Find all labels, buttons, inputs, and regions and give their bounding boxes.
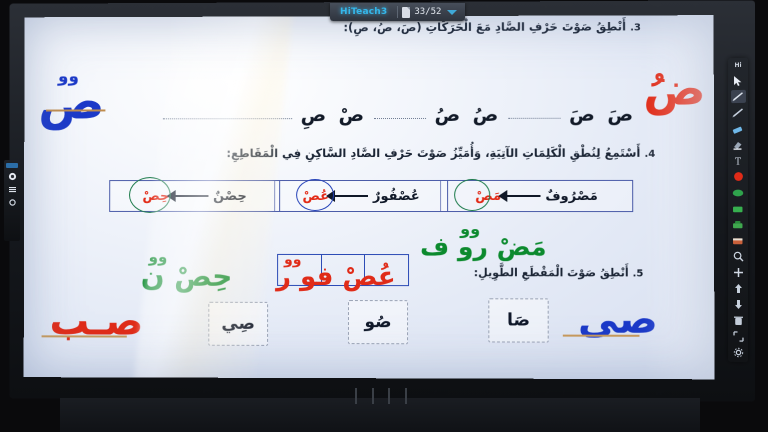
printed-letter-2: صَ: [569, 104, 595, 126]
highlighter-tool[interactable]: [731, 138, 746, 151]
display-photo: 3. أَنْطِقُ صَوْتَ حَرْفِ الصَّادِ مَعَ …: [0, 0, 768, 432]
add-page-tool[interactable]: [731, 266, 746, 279]
dotted-rule-2: [374, 118, 426, 119]
pencil-tool[interactable]: [731, 106, 746, 119]
printed-letter-3: صُ: [473, 104, 499, 126]
exercise4-number: 4.: [644, 149, 655, 160]
word-usfour: عُصْفُورٌ: [373, 188, 420, 203]
handwriting-green-hisn: حِصْ ن: [141, 260, 233, 293]
syllable-suu: صُو: [364, 312, 391, 332]
zoom-tool[interactable]: [731, 250, 746, 263]
handwriting-blue-waw: وو: [58, 69, 79, 86]
shape-tool[interactable]: [731, 202, 746, 215]
handwriting-green-waw-right: وو: [460, 219, 480, 238]
strip-cell-3: [278, 255, 321, 285]
right-tool-rail[interactable]: Hi T: [728, 58, 748, 363]
exercise4-instruction: 4. أَسْتَمِعُ لِنُطْقِ الْكَلِمَاتِ الآت…: [36, 146, 655, 160]
expand-tool[interactable]: [731, 330, 746, 343]
move-down-tool[interactable]: [731, 298, 746, 311]
page-indicator[interactable]: 33/52: [414, 7, 441, 17]
whiteboard-canvas[interactable]: 3. أَنْطِقُ صَوْتَ حَرْفِ الصَّادِ مَعَ …: [24, 15, 715, 379]
record-tool[interactable]: [7, 172, 18, 181]
chevron-down-icon[interactable]: [447, 10, 457, 15]
svg-text:T: T: [735, 157, 741, 166]
printed-letter-5: صْ: [338, 104, 364, 126]
syllable-box-suu[interactable]: صُو: [348, 300, 408, 344]
handwriting-green-waw-left: وو: [149, 248, 168, 266]
exercise4-text: أَسْتَمِعُ لِنُطْقِ الْكَلِمَاتِ الآتِيَ…: [226, 146, 640, 160]
page-icon[interactable]: [402, 7, 410, 18]
exercise3-letter-row: صَ صَ صُ صُ صْ صِ: [64, 94, 653, 129]
move-up-tool[interactable]: [731, 282, 746, 295]
screen-glare-edge: [643, 15, 715, 379]
handwriting-blue-underline: [46, 109, 105, 111]
exercise5-instruction: 5. أَنْطِقُ صَوْتَ الْمَقْطَعِ الطَّوِيل…: [322, 266, 643, 279]
printed-letter-1: صَ: [607, 104, 633, 126]
stand-vent: [355, 382, 407, 404]
red-color-swatch[interactable]: [731, 170, 746, 183]
left-rail-badge: [6, 163, 18, 168]
handwriting-red-bottom-underline: [42, 335, 127, 337]
exercise5-number: 5.: [633, 268, 644, 279]
eraser-tool[interactable]: [731, 122, 746, 135]
exercise3-number: 3.: [630, 22, 641, 33]
printed-letter-6: صِ: [301, 104, 327, 126]
hiteach-toolbar[interactable]: HiTeach3 33/52: [330, 3, 465, 21]
list-tool[interactable]: [7, 185, 18, 194]
printed-letter-4: صُ: [434, 104, 460, 126]
arrow-icon-2: [334, 195, 368, 197]
syllable-sii: صِي: [221, 314, 255, 334]
dotted-rule-3: [163, 118, 292, 119]
stamp-tool[interactable]: [731, 218, 746, 231]
arrow-icon-3: [174, 195, 208, 197]
word-masrouf: مَصْرُوفٌ: [545, 188, 598, 203]
word-hisn: حِصْنٌ: [213, 189, 247, 204]
image-tool[interactable]: [731, 234, 746, 247]
hiteach-logo[interactable]: HiTeach3: [334, 7, 393, 17]
menu-tool[interactable]: [7, 198, 18, 207]
cursor-tool[interactable]: [731, 74, 746, 87]
syllable-saa: صَا: [507, 310, 530, 330]
exercise5-text: أَنْطِقُ صَوْتَ الْمَقْطَعِ الطَّوِيلِ:: [474, 266, 629, 279]
left-tool-rail[interactable]: [4, 160, 20, 241]
syllable-box-sii[interactable]: صِي: [208, 302, 268, 346]
exercise3-instruction: 3. أَنْطِقُ صَوْتَ حَرْفِ الصَّادِ مَعَ …: [42, 19, 641, 35]
handwriting-blue-bottom-underline: [563, 335, 640, 337]
rail-header-label: Hi: [734, 61, 741, 71]
text-tool[interactable]: T: [731, 154, 746, 167]
exercise3-text: أَنْطِقُ صَوْتَ حَرْفِ الصَّادِ مَعَ الْ…: [343, 19, 626, 34]
delete-tool[interactable]: [731, 314, 746, 327]
circle-annotation-hisn: [129, 177, 171, 213]
toolbar-divider: [397, 6, 398, 18]
arrow-icon-1: [506, 195, 540, 197]
handwriting-green-masrouf: مَضْ رو ف: [420, 232, 547, 261]
circle-annotation-usfour: [296, 179, 334, 211]
circle-annotation-masrouf: [454, 179, 490, 211]
pen-tool[interactable]: [731, 90, 746, 103]
settings-tool[interactable]: [731, 346, 746, 359]
dotted-rule-1: [508, 118, 560, 119]
green-color-swatch[interactable]: [731, 186, 746, 199]
syllable-box-saa[interactable]: صَا: [488, 298, 548, 342]
